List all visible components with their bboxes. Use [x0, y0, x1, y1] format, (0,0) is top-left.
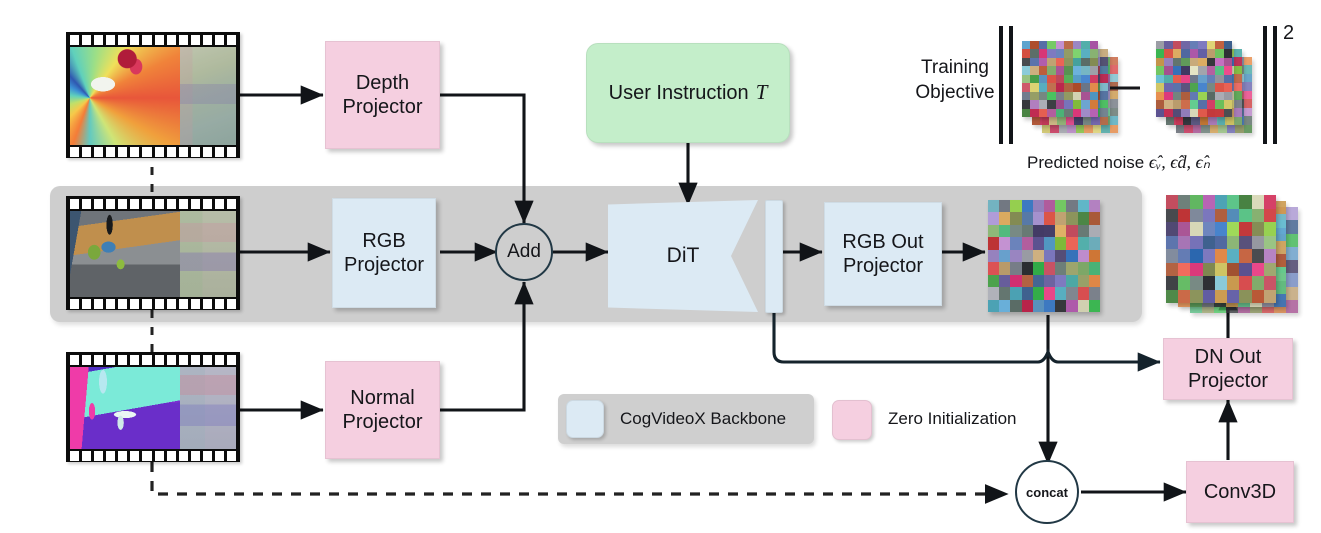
noise-cell — [1203, 263, 1215, 277]
predicted-noise-symbols: ϵ̂ᵥ, ϵ̂d, ϵ̂ₙ — [1149, 152, 1210, 172]
noise-cell — [1252, 290, 1264, 304]
training-objective-label: Training Objective — [900, 56, 1010, 105]
noise-cell — [1090, 92, 1098, 100]
noise-cell — [1264, 290, 1276, 304]
noise-cell — [1010, 287, 1021, 299]
add-node[interactable]: Add — [495, 223, 553, 281]
noise-cell — [1047, 41, 1055, 49]
noise-cell — [988, 300, 999, 312]
noise-cell — [1066, 275, 1077, 287]
noise-cell — [1190, 276, 1202, 290]
noise-cell — [1100, 83, 1108, 91]
noise-cell — [1156, 58, 1164, 66]
noise-cell — [1224, 92, 1232, 100]
noise-cell — [999, 287, 1010, 299]
noise-cell — [1090, 58, 1098, 66]
noise-cell — [1044, 225, 1055, 237]
noise-cell — [1039, 92, 1047, 100]
noise-cell — [1244, 91, 1252, 99]
noise-cell — [1198, 41, 1206, 49]
noise-cell — [1191, 117, 1199, 125]
noise-cell — [1039, 66, 1047, 74]
legend-swatch-backbone — [566, 400, 604, 438]
noise-cell — [1190, 236, 1202, 250]
noise-cell — [1203, 209, 1215, 223]
noise-cell — [1030, 75, 1038, 83]
noise-cell — [1033, 250, 1044, 262]
normal-video-frame[interactable] — [66, 352, 240, 462]
dit-label-wrap: DiT — [608, 200, 758, 312]
noise-cell — [1044, 300, 1055, 312]
noise-cell — [1064, 100, 1072, 108]
legend-swatch-zero-init — [832, 400, 872, 440]
noise-cell — [1227, 263, 1239, 277]
depth-projector-label-line1: Depth — [342, 71, 422, 95]
noise-cell — [1110, 108, 1118, 116]
noise-cell — [1022, 58, 1030, 66]
depth-video-frame[interactable] — [66, 32, 240, 158]
noise-cell — [1044, 262, 1055, 274]
noise-cell — [1227, 195, 1239, 209]
noise-cell — [1224, 41, 1232, 49]
concat-node[interactable]: concat — [1015, 460, 1079, 524]
dn-out-projector-box[interactable]: DN Out Projector — [1163, 338, 1293, 400]
noise-cell — [1089, 250, 1100, 262]
objective-minus-sign: — — [1110, 72, 1140, 102]
noise-cell — [1030, 92, 1038, 100]
noise-cell — [1010, 200, 1021, 212]
noise-cell — [1215, 92, 1223, 100]
noise-cell — [1047, 58, 1055, 66]
noise-cell — [1239, 263, 1251, 277]
noise-cell — [1164, 109, 1172, 117]
noise-cell — [1190, 41, 1198, 49]
exponent-glyph: 2 — [1283, 22, 1294, 44]
noise-cell — [1055, 225, 1066, 237]
noise-cell — [988, 287, 999, 299]
noise-cell — [1215, 66, 1223, 74]
depth-projector-label-line2: Projector — [342, 95, 422, 119]
noise-cell — [1022, 109, 1030, 117]
noise-cell — [1198, 92, 1206, 100]
noise-cell — [1022, 225, 1033, 237]
noise-cell — [1181, 49, 1189, 57]
noise-cell — [1264, 276, 1276, 290]
user-instruction-box[interactable]: User Instruction T — [586, 43, 790, 143]
legend-zero-init-text: Zero Initialization — [888, 409, 1017, 428]
noise-cell — [1033, 262, 1044, 274]
noise-cell — [1178, 222, 1190, 236]
noise-cell — [1178, 195, 1190, 209]
noise-cell — [1010, 275, 1021, 287]
noise-cell — [1022, 49, 1030, 57]
noise-cell — [1073, 92, 1081, 100]
noise-cell — [1166, 117, 1174, 125]
user-instruction-symbol: T — [756, 80, 768, 106]
noise-cell — [1066, 300, 1077, 312]
noise-cell — [1055, 275, 1066, 287]
noise-cell — [1190, 290, 1202, 304]
noise-cell — [1234, 57, 1242, 65]
noise-cell — [1178, 236, 1190, 250]
noise-cell — [1064, 92, 1072, 100]
noise-cell — [1224, 58, 1232, 66]
noise-cell — [1244, 116, 1252, 124]
noise-cell — [1207, 109, 1215, 117]
noise-cell — [1064, 83, 1072, 91]
noise-cell — [1215, 83, 1223, 91]
noise-cell — [988, 200, 999, 212]
noise-cell — [1239, 222, 1251, 236]
noise-cell — [1166, 290, 1178, 304]
noise-cell — [1244, 74, 1252, 82]
noise-cell — [1030, 66, 1038, 74]
noise-cell — [1044, 287, 1055, 299]
noise-cell — [1022, 300, 1033, 312]
noise-cell — [1178, 290, 1190, 304]
noise-cell — [1201, 125, 1209, 133]
noise-cell — [1073, 41, 1081, 49]
noise-cell — [1056, 41, 1064, 49]
noise-cell — [1089, 287, 1100, 299]
noise-cell — [1056, 109, 1064, 117]
noise-cell — [1156, 41, 1164, 49]
noise-cell — [1234, 91, 1242, 99]
noise-cell — [1047, 49, 1055, 57]
noise-cell — [1078, 300, 1089, 312]
noise-cell — [1010, 225, 1021, 237]
noise-cell — [1227, 249, 1239, 263]
noise-cell — [1181, 109, 1189, 117]
noise-cell — [1198, 75, 1206, 83]
noise-cell — [1207, 83, 1215, 91]
noise-cell — [1252, 222, 1264, 236]
noise-cell — [1181, 92, 1189, 100]
noise-cell — [988, 262, 999, 274]
noise-cell — [1286, 287, 1298, 300]
latent-token-bar[interactable] — [765, 200, 783, 313]
noise-cell — [1190, 49, 1198, 57]
noise-cell — [1076, 125, 1084, 133]
noise-cell — [1022, 275, 1033, 287]
noise-cell — [1164, 100, 1172, 108]
noise-cell — [1064, 58, 1072, 66]
noise-cell — [1055, 287, 1066, 299]
noise-cell — [1064, 41, 1072, 49]
noise-cell — [1225, 117, 1233, 125]
noise-cell — [1010, 237, 1021, 249]
noise-cell — [1033, 212, 1044, 224]
noise-cell — [1207, 100, 1215, 108]
noise-cell — [1089, 275, 1100, 287]
noise-cell — [1234, 74, 1242, 82]
predicted-noise-prefix: Predicted noise — [1027, 153, 1144, 172]
noise-cell — [1047, 92, 1055, 100]
noise-cell — [1100, 108, 1108, 116]
noise-cell — [1264, 236, 1276, 250]
noise-cell — [1078, 200, 1089, 212]
noise-cell — [1039, 49, 1047, 57]
noise-cell — [999, 212, 1010, 224]
objective-target-noise-front — [1022, 41, 1098, 117]
noise-cell — [1056, 49, 1064, 57]
noise-cell — [1089, 262, 1100, 274]
film-perforations-top — [70, 355, 236, 365]
noise-cell — [1047, 75, 1055, 83]
noise-cell — [1022, 92, 1030, 100]
diagram-canvas: Depth Projector RGB Projector Normal Pro… — [0, 0, 1321, 533]
noise-cell — [1183, 117, 1191, 125]
noise-cell — [1198, 83, 1206, 91]
normal-frame-image — [70, 367, 236, 449]
noise-cell — [1190, 263, 1202, 277]
noise-cell — [1164, 83, 1172, 91]
noise-cell — [1022, 41, 1030, 49]
noise-cell — [1176, 125, 1184, 133]
noise-cell — [1178, 209, 1190, 223]
noise-cell — [1081, 75, 1089, 83]
noise-cell — [1039, 75, 1047, 83]
noise-cell — [1181, 41, 1189, 49]
noise-cell — [1190, 100, 1198, 108]
noise-cell — [1039, 41, 1047, 49]
noise-cell — [1081, 49, 1089, 57]
noise-cell — [1190, 222, 1202, 236]
noise-cell — [1173, 83, 1181, 91]
noise-cell — [1208, 117, 1216, 125]
noise-cell — [1173, 66, 1181, 74]
noise-cell — [1032, 117, 1040, 125]
noise-cell — [1030, 83, 1038, 91]
noise-cell — [1022, 262, 1033, 274]
noise-cell — [1081, 41, 1089, 49]
noise-cell — [1010, 262, 1021, 274]
noise-cell — [1047, 66, 1055, 74]
noise-cell — [1022, 83, 1030, 91]
noise-cell — [1203, 249, 1215, 263]
noise-cell — [1055, 250, 1066, 262]
noise-cell — [1030, 100, 1038, 108]
depth-projector-box[interactable]: Depth Projector — [325, 41, 440, 149]
noise-cell — [1286, 300, 1298, 313]
noise-cell — [1033, 225, 1044, 237]
noise-cell — [1022, 200, 1033, 212]
noise-cell — [999, 237, 1010, 249]
noise-cell — [1286, 247, 1298, 260]
noise-cell — [1073, 49, 1081, 57]
noise-cell — [1203, 276, 1215, 290]
noise-cell — [1207, 75, 1215, 83]
noise-cell — [1091, 117, 1099, 125]
add-label: Add — [507, 241, 541, 263]
depth-frame-image — [70, 47, 236, 145]
noise-cell — [988, 237, 999, 249]
noise-cell — [1090, 66, 1098, 74]
noise-cell — [1252, 276, 1264, 290]
noise-cell — [1066, 237, 1077, 249]
noise-cell — [1190, 209, 1202, 223]
noise-cell — [1164, 58, 1172, 66]
noise-cell — [1166, 263, 1178, 277]
noise-cell — [1090, 100, 1098, 108]
noise-cell — [1033, 237, 1044, 249]
noise-cell — [1030, 109, 1038, 117]
noise-cell — [999, 262, 1010, 274]
noise-cell — [1286, 207, 1298, 220]
noise-cell — [1156, 92, 1164, 100]
noise-cell — [1224, 49, 1232, 57]
noise-cell — [1190, 66, 1198, 74]
noise-cell — [1090, 83, 1098, 91]
noise-cell — [1156, 66, 1164, 74]
noise-cell — [1066, 287, 1077, 299]
noise-cell — [1239, 249, 1251, 263]
noise-cell — [1090, 75, 1098, 83]
noise-cell — [1050, 125, 1058, 133]
noise-cell — [1101, 125, 1109, 133]
conv3d-box[interactable]: Conv3D — [1186, 461, 1294, 523]
noise-cell — [1040, 117, 1048, 125]
noise-cell — [1166, 236, 1178, 250]
noise-cell — [1081, 83, 1089, 91]
noise-cell — [1190, 75, 1198, 83]
concat-label: concat — [1026, 485, 1068, 500]
noise-cell — [1156, 83, 1164, 91]
noise-cell — [1215, 276, 1227, 290]
noise-cell — [1047, 100, 1055, 108]
noise-cell — [1078, 287, 1089, 299]
noise-cell — [1227, 125, 1235, 133]
noise-cell — [1089, 225, 1100, 237]
noise-cell — [1190, 109, 1198, 117]
noise-cell — [1227, 209, 1239, 223]
noise-cell — [1173, 100, 1181, 108]
noise-cell — [1184, 125, 1192, 133]
noise-cell — [1164, 49, 1172, 57]
norm-bar-right-outer — [1273, 26, 1277, 144]
rgb-projector-box[interactable]: RGB Projector — [332, 198, 436, 308]
noise-cell — [1090, 109, 1098, 117]
noise-cell — [1090, 49, 1098, 57]
noise-cell — [1239, 290, 1251, 304]
noise-cell — [1244, 125, 1252, 133]
noise-cell — [1207, 41, 1215, 49]
noise-cell — [1073, 66, 1081, 74]
noise-cell — [1022, 66, 1030, 74]
noise-cell — [999, 225, 1010, 237]
noise-cell — [1215, 75, 1223, 83]
noise-cell — [1234, 100, 1242, 108]
noise-cell — [1166, 209, 1178, 223]
noise-cell — [1084, 125, 1092, 133]
training-objective-label-line2: Objective — [915, 82, 994, 103]
noise-cell — [1217, 117, 1225, 125]
noise-cell — [1073, 75, 1081, 83]
noise-cell — [1073, 58, 1081, 66]
noise-cell — [1164, 75, 1172, 83]
noise-cell — [1081, 58, 1089, 66]
rgb-out-projector-box[interactable]: RGB Out Projector — [824, 202, 942, 306]
noise-cell — [1215, 290, 1227, 304]
noise-cell — [1073, 83, 1081, 91]
noise-cell — [1190, 195, 1202, 209]
noise-cell — [1198, 58, 1206, 66]
noise-cell — [999, 275, 1010, 287]
conv3d-label: Conv3D — [1204, 480, 1276, 504]
noise-cell — [1198, 66, 1206, 74]
noise-cell — [1239, 276, 1251, 290]
noise-cell — [1100, 74, 1108, 82]
noise-cell — [999, 300, 1010, 312]
user-instruction-label: User Instruction — [609, 81, 749, 105]
noise-cell — [1047, 83, 1055, 91]
noise-cell — [1218, 125, 1226, 133]
noise-cell — [1178, 276, 1190, 290]
noise-cell — [1207, 58, 1215, 66]
noise-cell — [1056, 100, 1064, 108]
film-perforations-bottom — [70, 451, 236, 461]
noise-cell — [1066, 200, 1077, 212]
noise-cell — [1215, 195, 1227, 209]
film-perforations-bottom — [70, 147, 236, 157]
noise-cell — [1264, 209, 1276, 223]
noise-cell — [1093, 125, 1101, 133]
noise-cell — [1010, 300, 1021, 312]
noise-cell — [1078, 237, 1089, 249]
noise-cell — [1064, 66, 1072, 74]
norm-bar-right-inner — [1263, 26, 1267, 144]
noise-cell — [1164, 66, 1172, 74]
objective-pred-noise-front — [1156, 41, 1232, 117]
noise-cell — [1022, 287, 1033, 299]
noise-cell — [988, 250, 999, 262]
legend-label-zero-init: Zero Initialization — [888, 409, 1017, 429]
noise-cell — [1215, 222, 1227, 236]
noise-cell — [1066, 262, 1077, 274]
noise-cell — [1264, 195, 1276, 209]
noise-cell — [1057, 117, 1065, 125]
noise-cell — [988, 212, 999, 224]
noise-cell — [1090, 41, 1098, 49]
noise-cell — [1049, 117, 1057, 125]
noise-cell — [1252, 209, 1264, 223]
noise-cell — [1066, 250, 1077, 262]
noise-cell — [1044, 200, 1055, 212]
noise-cell — [1089, 237, 1100, 249]
noise-cell — [1198, 49, 1206, 57]
noise-cell — [1235, 125, 1243, 133]
rgb-video-frame[interactable] — [66, 196, 240, 310]
noise-cell — [1044, 275, 1055, 287]
noise-cell — [1252, 249, 1264, 263]
noise-cell — [1173, 41, 1181, 49]
noise-cell — [1089, 200, 1100, 212]
noise-cell — [1190, 83, 1198, 91]
rgb-out-projector-label-line1: RGB Out — [842, 230, 923, 254]
noise-cell — [1078, 212, 1089, 224]
noise-cell — [1022, 100, 1030, 108]
noise-cell — [1244, 65, 1252, 73]
noise-cell — [1030, 49, 1038, 57]
normal-projector-box[interactable]: Normal Projector — [325, 361, 440, 459]
noise-cell — [1056, 66, 1064, 74]
film-perforations-top — [70, 35, 236, 45]
noise-cell — [1073, 100, 1081, 108]
noise-cell — [1078, 262, 1089, 274]
normal-projector-label-line2: Projector — [342, 410, 422, 434]
noise-cell — [1089, 300, 1100, 312]
noise-cell — [1030, 41, 1038, 49]
